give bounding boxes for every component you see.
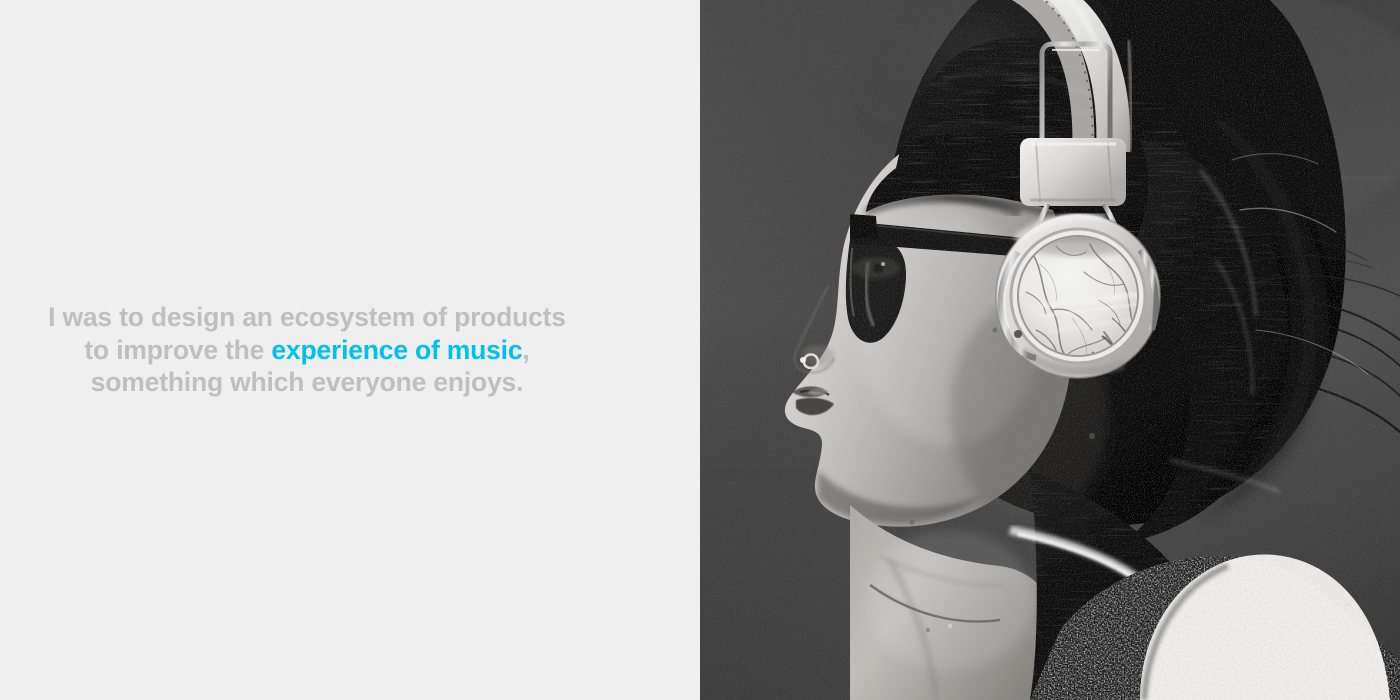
quote-line-3: something which everyone enjoys. xyxy=(37,366,577,399)
quote-line-1-text: I was to design an ecosystem of products xyxy=(48,302,566,332)
quote-line-2-prefix: to improve the xyxy=(84,335,271,365)
quote-line-1: I was to design an ecosystem of products xyxy=(37,301,577,334)
photo-panel xyxy=(700,0,1400,700)
quote-panel: I was to design an ecosystem of products… xyxy=(0,0,700,700)
quote-block: I was to design an ecosystem of products… xyxy=(40,301,580,399)
quote-line-2-suffix: , xyxy=(522,335,529,365)
slide-root: I was to design an ecosystem of products… xyxy=(0,0,1400,700)
quote-line-2: to improve the experience of music, xyxy=(37,334,577,367)
quote-line-3-text: something which everyone enjoys. xyxy=(91,367,523,397)
quote-highlight-experience-of-music: experience of music xyxy=(271,335,522,365)
woman-profile-photo xyxy=(700,0,1400,700)
